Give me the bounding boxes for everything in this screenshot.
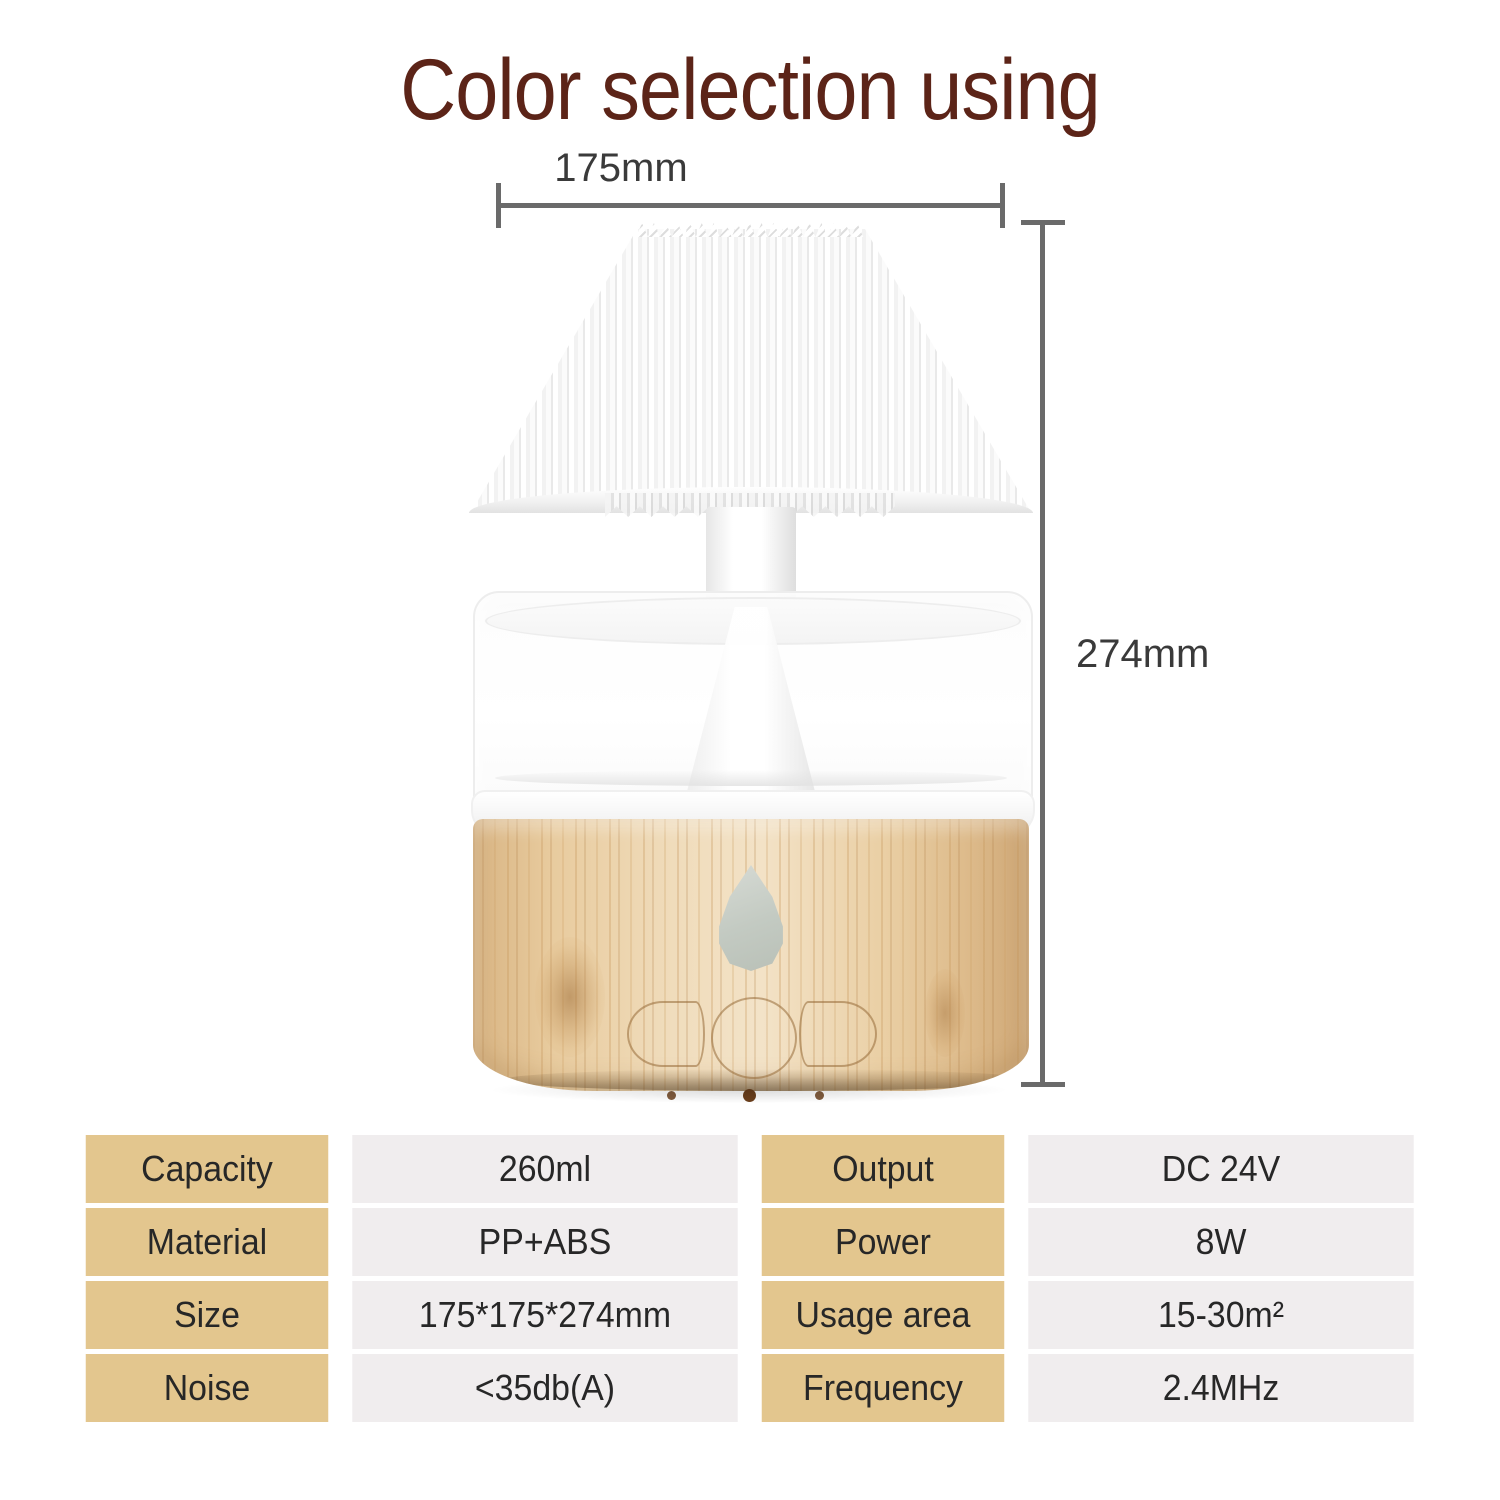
mist-mode-right-button[interactable] — [799, 1001, 877, 1067]
spec-label-frequency: Frequency — [762, 1354, 1005, 1422]
power-button[interactable] — [711, 997, 797, 1079]
table-row: Capacity 260ml Output DC 24V — [78, 1135, 1426, 1203]
spec-label-capacity: Capacity — [86, 1135, 329, 1203]
product-spec-page: Color selection using 175mm 274mm — [0, 0, 1500, 1500]
spec-label-power: Power — [762, 1208, 1005, 1276]
spec-value-size: 175*175*274mm — [352, 1281, 737, 1349]
spec-value-material: PP+ABS — [352, 1208, 737, 1276]
product-drop-shadow — [493, 1077, 1005, 1103]
table-row: Noise <35db(A) Frequency 2.4MHz — [78, 1354, 1426, 1422]
spec-label-usage-area: Usage area — [762, 1281, 1005, 1349]
page-title: Color selection using — [75, 42, 1425, 138]
wood-knot-right — [925, 969, 965, 1057]
wood-knot-left — [535, 937, 605, 1057]
lamp-shade — [473, 229, 1029, 509]
spec-value-power: 8W — [1028, 1208, 1413, 1276]
spec-label-output: Output — [762, 1135, 1005, 1203]
spec-value-noise: <35db(A) — [352, 1354, 737, 1422]
table-row: Size 175*175*274mm Usage area 15-30m² — [78, 1281, 1426, 1349]
spec-value-capacity: 260ml — [352, 1135, 737, 1203]
table-row: Material PP+ABS Power 8W — [78, 1208, 1426, 1276]
width-dimension-label: 175mm — [0, 146, 1500, 191]
height-dimension-label: 274mm — [1076, 632, 1209, 677]
spec-label-material: Material — [86, 1208, 329, 1276]
specification-table: Capacity 260ml Output DC 24V Material PP… — [78, 1135, 1426, 1427]
water-level-line — [495, 770, 1007, 786]
mist-mode-left-button[interactable] — [627, 1001, 705, 1067]
spec-value-output: DC 24V — [1028, 1135, 1413, 1203]
spec-value-usage-area: 15-30m² — [1028, 1281, 1413, 1349]
product-image — [455, 215, 1045, 1105]
width-dimension-value: 175mm — [554, 146, 687, 191]
spec-value-frequency: 2.4MHz — [1028, 1354, 1413, 1422]
spec-label-noise: Noise — [86, 1354, 329, 1422]
width-dimension-line — [498, 203, 1005, 208]
spec-label-size: Size — [86, 1281, 329, 1349]
